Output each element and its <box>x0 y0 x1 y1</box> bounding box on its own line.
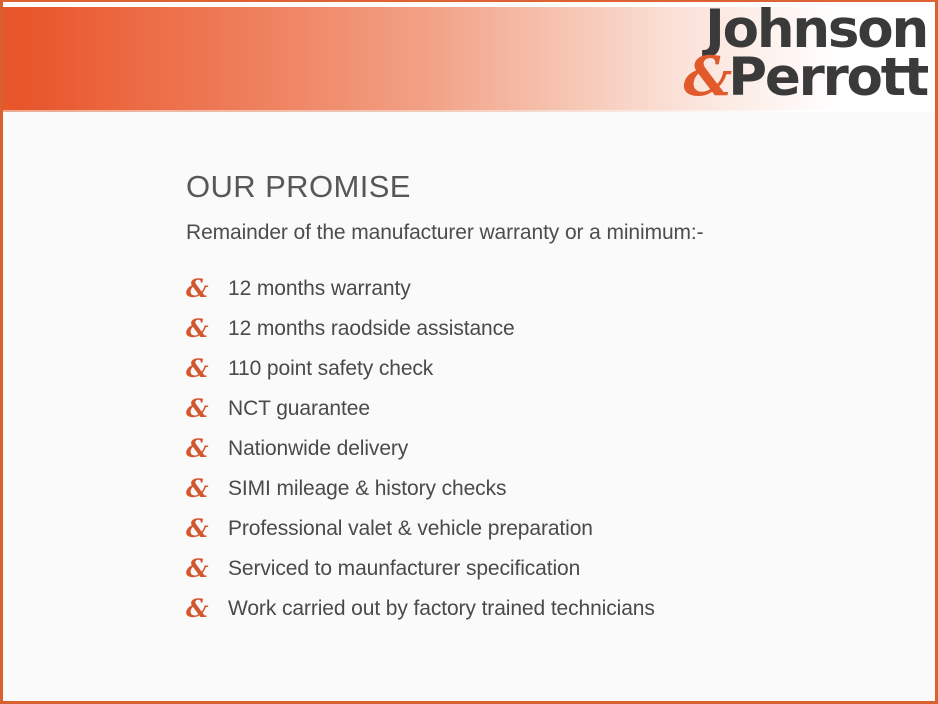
list-item-label: SIMI mileage & history checks <box>228 477 506 500</box>
ampersand-bullet-icon: & <box>186 435 210 462</box>
promise-subtitle: Remainder of the manufacturer warranty o… <box>186 220 906 245</box>
list-item-label: 12 months warranty <box>228 277 411 300</box>
ampersand-bullet-icon: & <box>186 395 210 422</box>
list-item: & 110 point safety check <box>186 355 906 384</box>
logo-line-perrott: Perrott <box>728 47 927 108</box>
list-item: & Work carried out by factory trained te… <box>186 595 906 624</box>
list-item-label: NCT guarantee <box>228 397 370 420</box>
list-item: & Nationwide delivery <box>186 435 906 464</box>
list-item: & Serviced to maunfacturer specification <box>186 555 906 584</box>
list-item: & Professional valet & vehicle preparati… <box>186 515 906 544</box>
list-item: & SIMI mileage & history checks <box>186 475 906 504</box>
list-item-label: 110 point safety check <box>228 357 433 380</box>
promise-content: OUR PROMISE Remainder of the manufacture… <box>186 170 906 635</box>
page-title: OUR PROMISE <box>186 170 906 204</box>
list-item: & 12 months warranty <box>186 275 906 304</box>
list-item-label: Serviced to maunfacturer specification <box>228 557 580 580</box>
ampersand-bullet-icon: & <box>186 355 210 382</box>
list-item: & 12 months raodside assistance <box>186 315 906 344</box>
promise-page: Johnson &Perrott OUR PROMISE Remainder o… <box>0 0 938 704</box>
johnson-and-perrott-logo: Johnson &Perrott <box>683 6 927 103</box>
list-item-label: Work carried out by factory trained tech… <box>228 597 655 620</box>
logo-ampersand-icon: & <box>683 44 728 108</box>
list-item: & NCT guarantee <box>186 395 906 424</box>
ampersand-bullet-icon: & <box>186 315 210 342</box>
list-item-label: Nationwide delivery <box>228 437 408 460</box>
ampersand-bullet-icon: & <box>186 275 210 302</box>
brand-header: Johnson &Perrott <box>3 2 935 112</box>
promise-list: & 12 months warranty & 12 months raodsid… <box>186 275 906 624</box>
list-item-label: Professional valet & vehicle preparation <box>228 517 593 540</box>
ampersand-bullet-icon: & <box>186 555 210 582</box>
ampersand-bullet-icon: & <box>186 595 210 622</box>
ampersand-bullet-icon: & <box>186 515 210 542</box>
header-bottom-edge <box>3 110 935 112</box>
list-item-label: 12 months raodside assistance <box>228 317 515 340</box>
logo-line-perrott-wrap: &Perrott <box>683 52 927 103</box>
ampersand-bullet-icon: & <box>186 475 210 502</box>
